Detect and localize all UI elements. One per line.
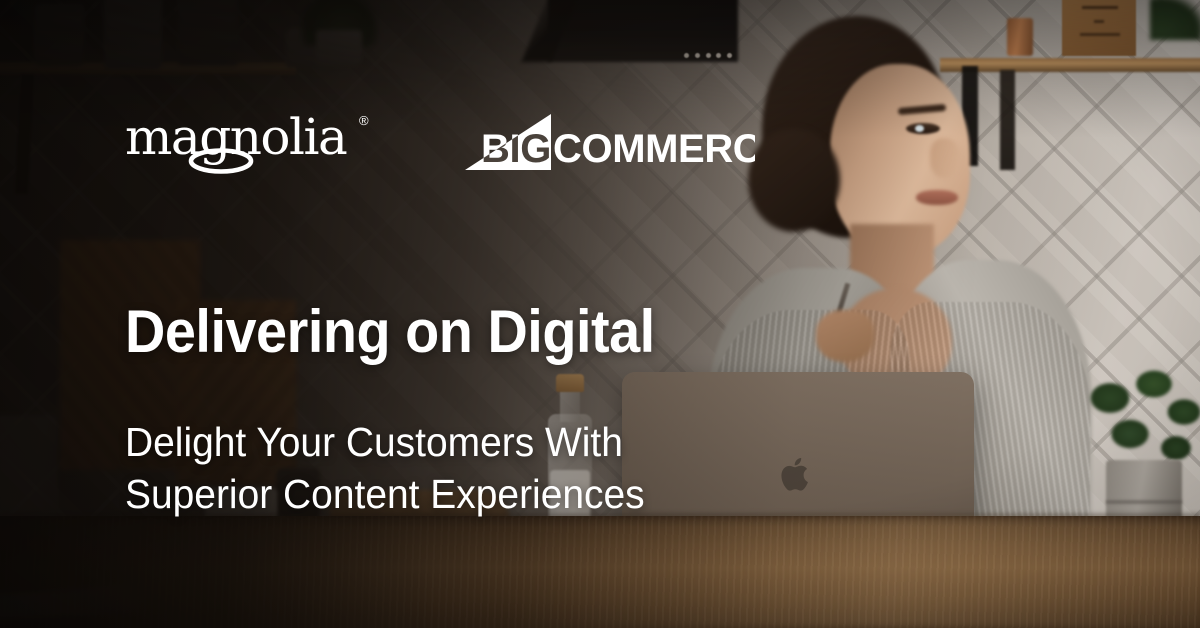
bigcommerce-commerce-text: COMMERCE [553,127,755,171]
marketing-banner: magnolia ® CO [0,0,1200,628]
page-subtitle-line-2: Superior Content Experiences [125,468,645,520]
page-title: Delivering on Digital [125,302,655,362]
bigcommerce-wordmark: COMMERCE BIG BIG [465,112,755,174]
registered-trademark-icon: ® [359,114,369,127]
banner-content: magnolia ® CO [0,0,1200,628]
page-subtitle: Delight Your Customers With Superior Con… [125,416,645,521]
magnolia-logo: magnolia ® [125,112,369,174]
bigcommerce-logo: COMMERCE BIG BIG [465,112,755,174]
logo-row: magnolia ® CO [125,112,755,174]
magnolia-wordmark: magnolia [125,112,357,174]
magnolia-wordmark-text: magnolia [125,112,347,166]
page-subtitle-line-1: Delight Your Customers With [125,416,645,468]
